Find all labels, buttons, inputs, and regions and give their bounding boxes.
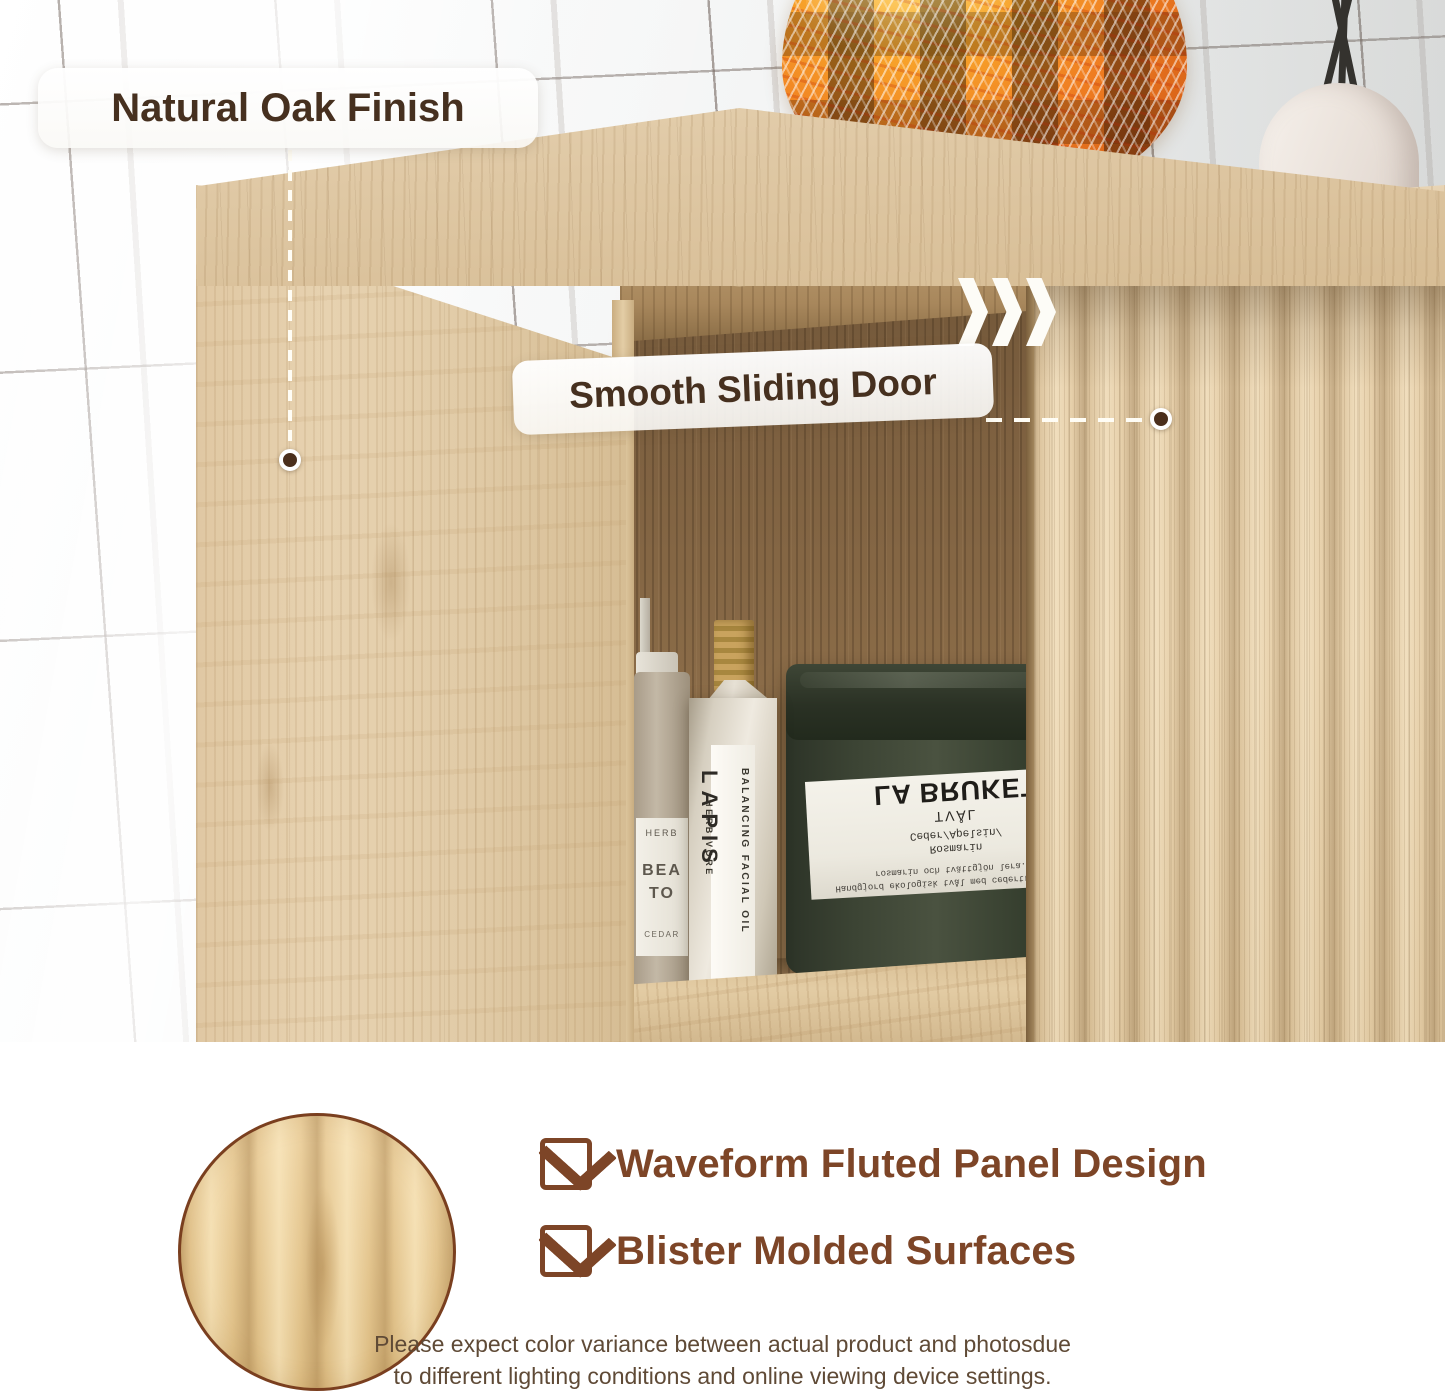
- chevron-right-icon: [992, 278, 1022, 346]
- spray-bottle-brand: HERB: [636, 828, 688, 838]
- chevron-right-icon: [1026, 278, 1056, 346]
- disclaimer-line-1: Please expect color variance between act…: [80, 1329, 1365, 1361]
- callout-leader-line-door: [986, 418, 1158, 422]
- feature-label: Blister Molded Surfaces: [616, 1231, 1076, 1271]
- dot-marker-icon: [1150, 408, 1172, 430]
- wood-knot: [256, 742, 284, 832]
- slide-direction-arrows: [958, 278, 1066, 346]
- spray-bottle-nozzle: [640, 598, 650, 656]
- spray-bottle-line2: TO: [636, 885, 688, 903]
- feature-list: Waveform Fluted Panel Design Blister Mol…: [540, 1138, 1340, 1312]
- checkbox-checked-icon: [540, 1225, 592, 1277]
- swatch-wood-knot: [306, 1187, 340, 1347]
- callout-label-oak-finish: Natural Oak Finish: [38, 68, 538, 148]
- feature-label: Waveform Fluted Panel Design: [616, 1144, 1207, 1184]
- spray-bottle-line1: BEA: [636, 862, 688, 880]
- oil-bottle-name: LAPIS: [696, 770, 722, 970]
- wood-knot: [371, 522, 411, 642]
- disclaimer-line-2: to different lighting conditions and onl…: [80, 1361, 1365, 1393]
- sliding-fluted-door[interactable]: [1034, 258, 1445, 1042]
- product-feature-image: PURE LA BRUKET TVÅL Ceder/Apelsin/ Rosma…: [0, 0, 1445, 1395]
- spray-bottle-line3: CEDAR: [636, 930, 688, 939]
- oak-cabinet: LA BRUKET TVÅL Ceder/Apelsin/ Rosmarin H…: [0, 0, 1445, 1042]
- product-photo-panel: PURE LA BRUKET TVÅL Ceder/Apelsin/ Rosma…: [0, 0, 1445, 1042]
- oil-bottle-descriptor: BALANCING FACIAL OIL: [739, 768, 750, 968]
- list-item: Blister Molded Surfaces: [540, 1225, 1340, 1277]
- feature-summary-section: Waveform Fluted Panel Design Blister Mol…: [0, 1042, 1445, 1395]
- chevron-right-icon: [958, 278, 988, 346]
- list-item: Waveform Fluted Panel Design: [540, 1138, 1340, 1190]
- checkbox-checked-icon: [540, 1138, 592, 1190]
- dot-marker-icon: [279, 449, 301, 471]
- color-variance-disclaimer: Please expect color variance between act…: [0, 1329, 1445, 1392]
- side-panel-wood-grain: [196, 222, 626, 1042]
- cabinet-left-side-panel: [196, 222, 626, 1042]
- callout-leader-line-oak: [288, 150, 292, 450]
